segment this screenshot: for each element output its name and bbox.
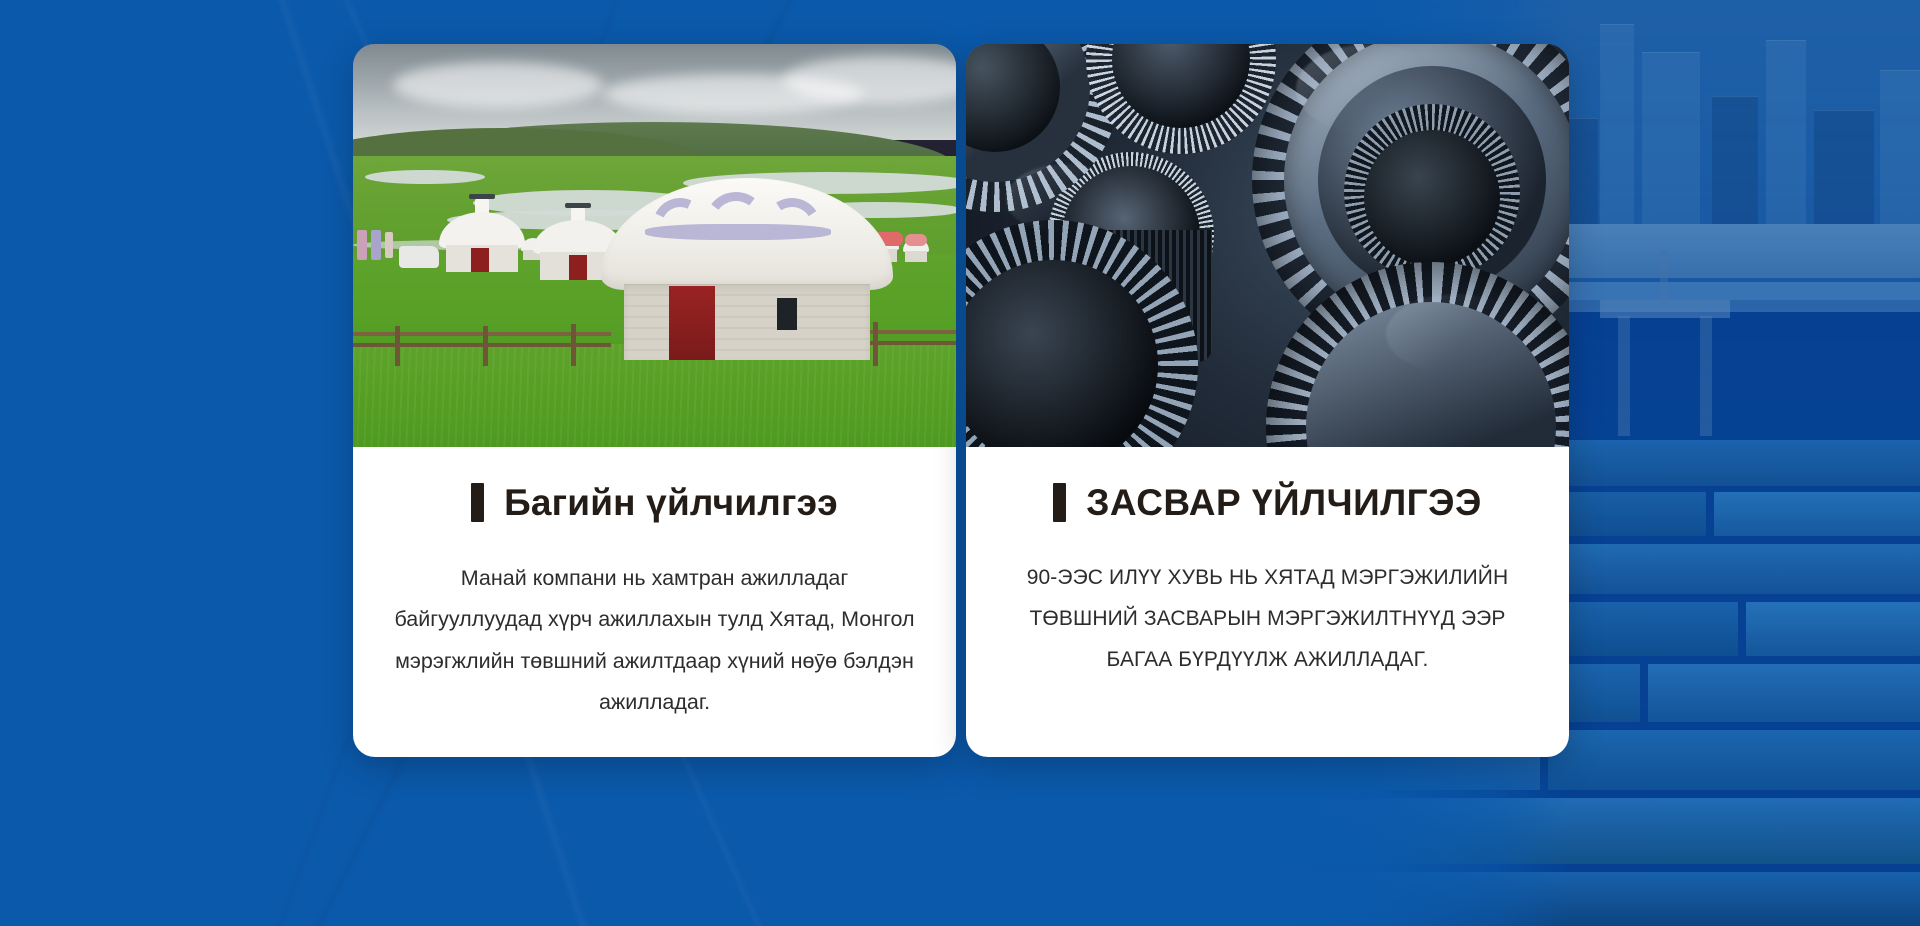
card-title-row: ЗАСВАР ҮЙЛЧИЛГЭЭ xyxy=(1006,483,1529,522)
card-image-gears xyxy=(966,44,1569,447)
card-title: Багийн үйлчилгээ xyxy=(504,484,838,521)
accent-bar-icon xyxy=(471,483,484,522)
service-card-repair-service[interactable]: ЗАСВАР ҮЙЛЧИЛГЭЭ 90-ЭЭС ИЛҮҮ ХУВЬ НЬ ХЯТ… xyxy=(966,44,1569,757)
card-title: ЗАСВАР ҮЙЛЧИЛГЭЭ xyxy=(1086,484,1482,521)
card-body: ЗАСВАР ҮЙЛЧИЛГЭЭ 90-ЭЭС ИЛҮҮ ХУВЬ НЬ ХЯТ… xyxy=(966,447,1569,757)
accent-bar-icon xyxy=(1053,483,1066,522)
service-card-team-service[interactable]: Багийн үйлчилгээ Манай компани нь хамтра… xyxy=(353,44,956,757)
service-cards-container: Багийн үйлчилгээ Манай компани нь хамтра… xyxy=(353,44,1569,757)
card-title-row: Багийн үйлчилгээ xyxy=(393,483,916,522)
card-description: 90-ЭЭС ИЛҮҮ ХУВЬ НЬ ХЯТАД МЭРГЭЖИЛИЙН ТӨ… xyxy=(1006,558,1529,681)
card-image-ger-camp xyxy=(353,44,956,447)
card-body: Багийн үйлчилгээ Манай компани нь хамтра… xyxy=(353,447,956,757)
page-root: Багийн үйлчилгээ Манай компани нь хамтра… xyxy=(0,0,1920,926)
card-description: Манай компани нь хамтран ажилладаг байгу… xyxy=(393,558,916,723)
